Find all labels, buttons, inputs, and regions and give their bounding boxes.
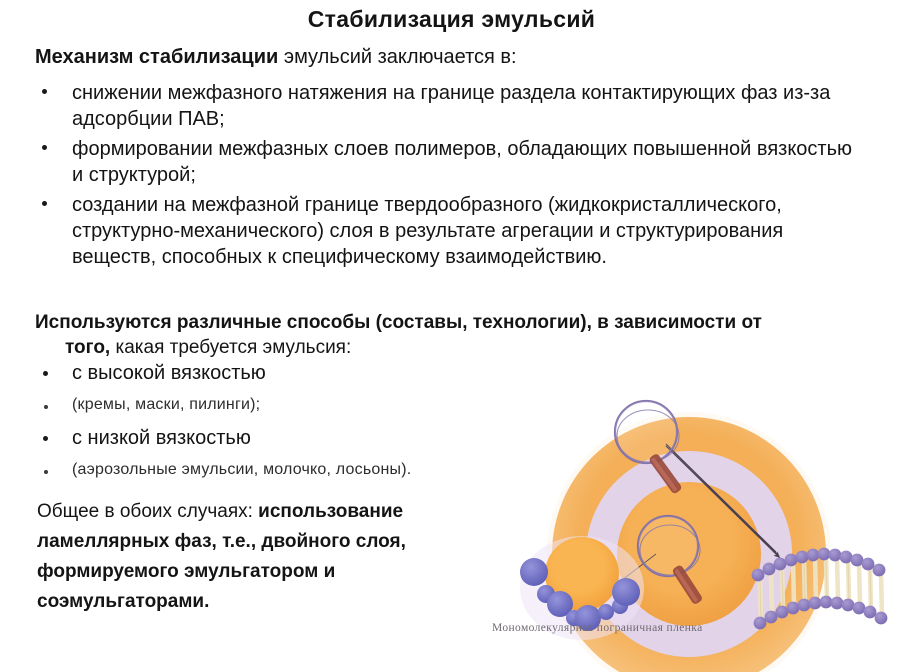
intro-bold-text: Механизм стабилизации bbox=[35, 46, 278, 68]
list-item-label: с низкой вязкостью bbox=[72, 427, 251, 449]
page-title: Стабилизация эмульсий bbox=[0, 6, 903, 33]
viscosity-bullet-list: с высокой вязкостью (кремы, маски, пилин… bbox=[0, 360, 500, 490]
list-item-label: (аэрозольные эмульсии, молочко, лосьоны)… bbox=[72, 461, 411, 478]
list-item: с высокой вязкостью bbox=[0, 360, 500, 393]
emulsion-diagram-figure: Мономолекулярная пограничная пленка bbox=[470, 356, 903, 672]
bullet-dot-icon bbox=[44, 470, 48, 474]
list-item: (аэрозольные эмульсии, молочко, лосьоны)… bbox=[0, 458, 500, 490]
list-item-label: с высокой вязкостью bbox=[72, 362, 266, 384]
mechanism-bullet-list: снижении межфазного натяжения на границе… bbox=[0, 80, 860, 274]
usage-line-2-rest: какая требуется эмульсия: bbox=[110, 337, 351, 358]
usage-paragraph: Используются различные способы (составы,… bbox=[35, 310, 880, 360]
list-item: с низкой вязкостью bbox=[0, 425, 500, 458]
common-paragraph-regular: Общее в обоих случаях: bbox=[37, 501, 258, 522]
list-item: формировании межфазных слоев полимеров, … bbox=[0, 136, 860, 188]
intro-rest-text: эмульсий заключается в: bbox=[278, 46, 516, 68]
list-item: снижении межфазного натяжения на границе… bbox=[0, 80, 860, 132]
usage-line-2-bold: того, bbox=[65, 337, 110, 358]
figure-caption: Мономолекулярная пограничная пленка bbox=[492, 622, 703, 634]
bullet-dot-icon bbox=[42, 201, 47, 206]
list-item: создании на межфазной границе твердообра… bbox=[0, 192, 860, 270]
bullet-dot-icon bbox=[42, 89, 47, 94]
list-item-label: снижении межфазного натяжения на границе… bbox=[72, 82, 830, 130]
list-item-label: формировании межфазных слоев полимеров, … bbox=[72, 138, 852, 186]
intro-line: Механизм стабилизации эмульсий заключает… bbox=[35, 44, 517, 70]
list-item: (кремы, маски, пилинги); bbox=[0, 393, 500, 425]
bullet-dot-icon bbox=[44, 405, 48, 409]
usage-line-1: Используются различные способы (составы,… bbox=[35, 312, 762, 333]
bullet-dot-icon bbox=[42, 145, 47, 150]
slide-canvas: Стабилизация эмульсий Механизм стабилиза… bbox=[0, 0, 903, 672]
common-paragraph: Общее в обоих случаях: использование лам… bbox=[37, 497, 467, 617]
list-item-label: создании на межфазной границе твердообра… bbox=[72, 194, 783, 268]
bullet-dot-icon bbox=[43, 436, 48, 441]
list-item-label: (кремы, маски, пилинги); bbox=[72, 396, 260, 413]
bullet-dot-icon bbox=[43, 371, 48, 376]
